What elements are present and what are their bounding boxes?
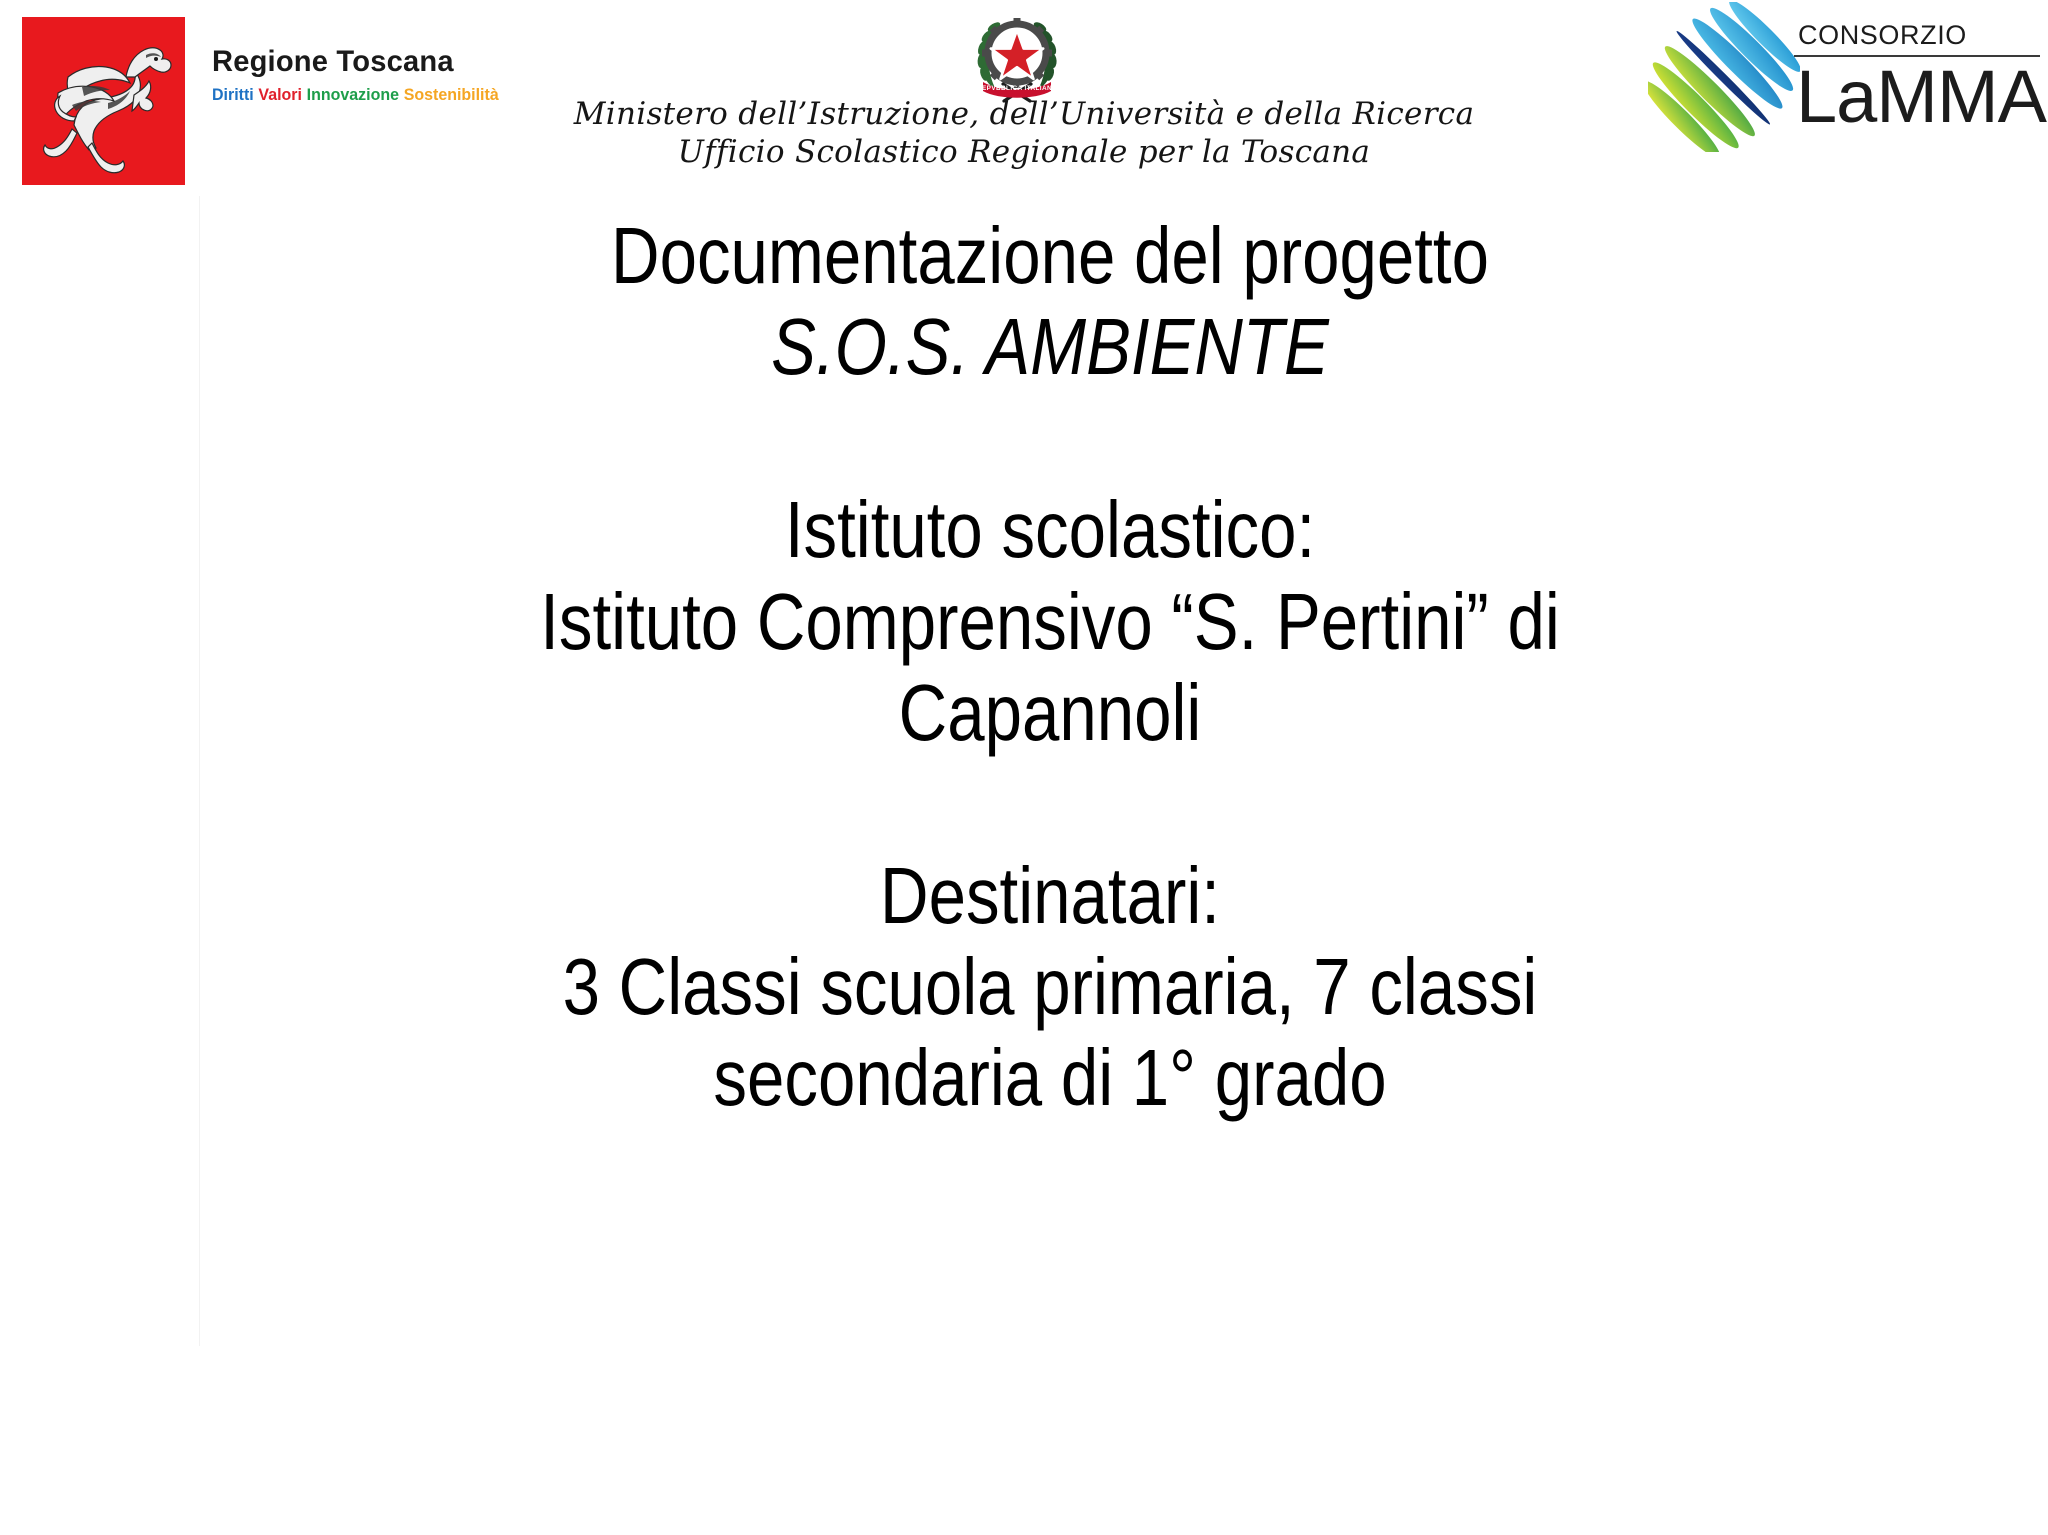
recipients-line-1: 3 Classi scuola primaria, 7 classi bbox=[336, 941, 1764, 1032]
lamma-leaves-icon bbox=[1648, 2, 1800, 152]
logo-header-bar: Regione Toscana DirittiValoriInnovazione… bbox=[0, 0, 2048, 200]
logo-ministero-istruzione: REPVBBLICA ITALIANA Ministero dell’Istru… bbox=[524, 4, 1524, 160]
tagline-word-diritti: Diritti bbox=[212, 85, 254, 104]
lamma-wordmark: CONSORZIO LaMMA bbox=[1794, 8, 2044, 133]
spacer-2 bbox=[200, 758, 1900, 850]
tagline-word-innovazione: Innovazione bbox=[307, 85, 399, 104]
project-title-line-2: S.O.S. AMBIENTE bbox=[336, 301, 1764, 392]
recipients-label: Destinatari: bbox=[336, 850, 1764, 941]
logo-consorzio-lamma: CONSORZIO LaMMA bbox=[1648, 2, 2044, 152]
regione-toscana-tagline: DirittiValoriInnovazioneSostenibilità bbox=[212, 85, 438, 105]
slide-canvas: Regione Toscana DirittiValoriInnovazione… bbox=[0, 0, 2048, 1535]
lamma-name: LaMMA bbox=[1794, 61, 2044, 134]
italian-republic-emblem-icon: REPVBBLICA ITALIANA bbox=[967, 6, 1067, 106]
pegasus-icon bbox=[22, 17, 185, 185]
spacer-1 bbox=[200, 392, 1900, 484]
slide-content: Documentazione del progetto S.O.S. AMBIE… bbox=[200, 210, 1900, 1310]
lamma-consorzio-label: CONSORZIO bbox=[1794, 8, 2044, 55]
school-name-line-1: Istituto Comprensivo “S. Pertini” di bbox=[336, 576, 1764, 667]
regione-toscana-title: Regione Toscana bbox=[212, 45, 445, 79]
logo-regione-toscana: Regione Toscana DirittiValoriInnovazione… bbox=[22, 17, 442, 192]
recipients-line-2: secondaria di 1° grado bbox=[336, 1032, 1764, 1123]
svg-text:REPVBBLICA ITALIANA: REPVBBLICA ITALIANA bbox=[977, 85, 1057, 92]
tagline-word-valori: Valori bbox=[258, 85, 302, 104]
tagline-word-sostenibilita: Sostenibilità bbox=[404, 85, 499, 104]
ministero-line-2: Ufficio Scolastico Regionale per la Tosc… bbox=[524, 134, 1524, 170]
ministero-line-1: Ministero dell’Istruzione, dell’Universi… bbox=[524, 96, 1524, 132]
school-name-line-2: Capannoli bbox=[336, 667, 1764, 758]
school-label: Istituto scolastico: bbox=[336, 484, 1764, 575]
project-title-line-1: Documentazione del progetto bbox=[336, 210, 1764, 301]
regione-toscana-wordmark: Regione Toscana DirittiValoriInnovazione… bbox=[212, 45, 452, 105]
